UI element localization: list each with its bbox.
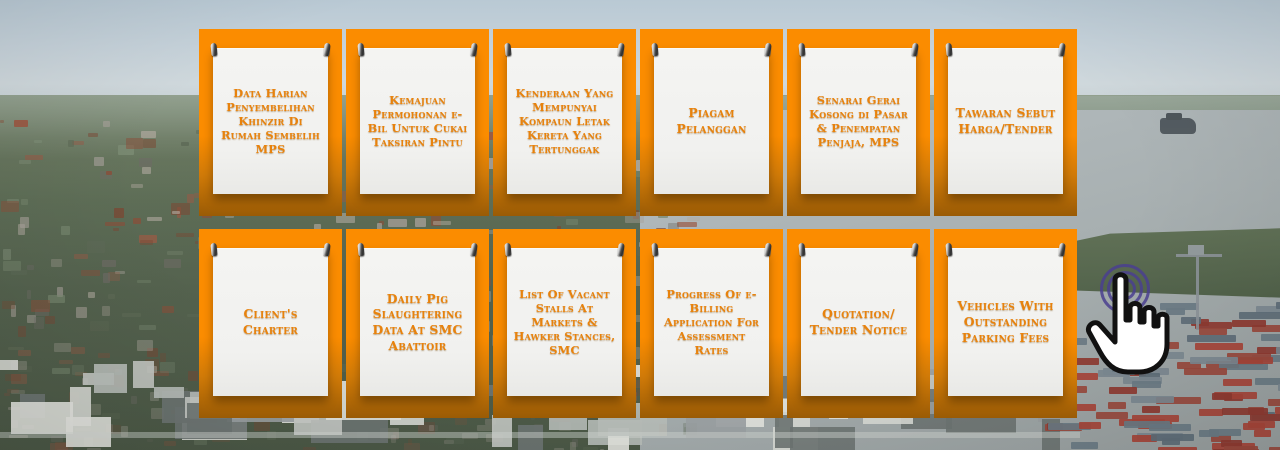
service-card[interactable]: Tawaran Sebut Harga/Tender [934, 29, 1077, 216]
boat [1160, 118, 1196, 134]
paper-clip-right-icon [911, 43, 918, 57]
road [0, 432, 1080, 438]
paper-clip-right-icon [764, 243, 771, 257]
paper-clip-left-icon [357, 243, 364, 257]
service-card[interactable]: Kenderaan Yang Mempunyai Kompaun Letak K… [493, 29, 636, 216]
card-paper: List Of Vacant Stalls At Markets & Hawke… [507, 248, 622, 396]
card-paper: Daily Pig Slaughtering Data At SMC Abatt… [360, 248, 475, 396]
card-title: Tawaran Sebut Harga/Tender [953, 105, 1058, 137]
port-crane [1196, 252, 1199, 330]
card-paper: Vehicles With Outstanding Parking Fees [948, 248, 1063, 396]
paper-clip-left-icon [651, 243, 658, 257]
card-title: Quotation/ Tender Notice [806, 306, 911, 338]
card-row: Data Harian Penyembelihan Khinzir Di Rum… [199, 29, 1081, 216]
card-title: Kemajuan Permohonan e-Bil Untuk Cukai Ta… [365, 93, 470, 150]
paper-clip-right-icon [323, 43, 330, 57]
paper-clip-left-icon [651, 43, 658, 57]
service-card[interactable]: Vehicles With Outstanding Parking Fees [934, 229, 1077, 418]
service-card[interactable]: Senarai Gerai Kosong di Pasar & Penempat… [787, 29, 930, 216]
paper-clip-left-icon [210, 243, 217, 257]
service-card[interactable]: Quotation/ Tender Notice [787, 229, 930, 418]
service-card[interactable]: Progress Of e-Billing Application For As… [640, 229, 783, 418]
service-card[interactable]: Kemajuan Permohonan e-Bil Untuk Cukai Ta… [346, 29, 489, 216]
paper-clip-left-icon [504, 243, 511, 257]
card-title: Daily Pig Slaughtering Data At SMC Abatt… [365, 291, 470, 354]
service-card[interactable]: List Of Vacant Stalls At Markets & Hawke… [493, 229, 636, 418]
paper-clip-left-icon [945, 43, 952, 57]
paper-clip-left-icon [945, 243, 952, 257]
card-title: Data Harian Penyembelihan Khinzir Di Rum… [218, 86, 323, 157]
page-stage: Data Harian Penyembelihan Khinzir Di Rum… [0, 0, 1280, 450]
paper-clip-left-icon [798, 243, 805, 257]
service-card[interactable]: Client's Charter [199, 229, 342, 418]
paper-clip-right-icon [617, 243, 624, 257]
card-paper: Kemajuan Permohonan e-Bil Untuk Cukai Ta… [360, 48, 475, 194]
card-row: Client's CharterDaily Pig Slaughtering D… [199, 229, 1081, 418]
card-title: Progress Of e-Billing Application For As… [659, 287, 764, 358]
paper-clip-right-icon [764, 43, 771, 57]
card-paper: Data Harian Penyembelihan Khinzir Di Rum… [213, 48, 328, 194]
card-paper: Quotation/ Tender Notice [801, 248, 916, 396]
paper-clip-right-icon [470, 243, 477, 257]
paper-clip-right-icon [1058, 243, 1065, 257]
card-paper: Client's Charter [213, 248, 328, 396]
paper-clip-left-icon [504, 43, 511, 57]
card-title: Senarai Gerai Kosong di Pasar & Penempat… [806, 93, 911, 150]
service-card-grid: Data Harian Penyembelihan Khinzir Di Rum… [199, 29, 1081, 418]
card-paper: Tawaran Sebut Harga/Tender [948, 48, 1063, 194]
card-paper: Progress Of e-Billing Application For As… [654, 248, 769, 396]
card-title: Piagam Pelanggan [659, 105, 764, 137]
card-title: List Of Vacant Stalls At Markets & Hawke… [512, 287, 617, 358]
card-title: Vehicles With Outstanding Parking Fees [953, 298, 1058, 345]
paper-clip-left-icon [210, 43, 217, 57]
service-card[interactable]: Data Harian Penyembelihan Khinzir Di Rum… [199, 29, 342, 216]
paper-clip-right-icon [470, 43, 477, 57]
paper-clip-right-icon [911, 243, 918, 257]
card-title: Client's Charter [218, 306, 323, 338]
card-paper: Piagam Pelanggan [654, 48, 769, 194]
card-paper: Kenderaan Yang Mempunyai Kompaun Letak K… [507, 48, 622, 194]
card-title: Kenderaan Yang Mempunyai Kompaun Letak K… [512, 86, 617, 157]
service-card[interactable]: Piagam Pelanggan [640, 29, 783, 216]
paper-clip-left-icon [357, 43, 364, 57]
paper-clip-right-icon [1058, 43, 1065, 57]
service-card[interactable]: Daily Pig Slaughtering Data At SMC Abatt… [346, 229, 489, 418]
paper-clip-right-icon [617, 43, 624, 57]
paper-clip-right-icon [323, 243, 330, 257]
card-paper: Senarai Gerai Kosong di Pasar & Penempat… [801, 48, 916, 194]
paper-clip-left-icon [798, 43, 805, 57]
